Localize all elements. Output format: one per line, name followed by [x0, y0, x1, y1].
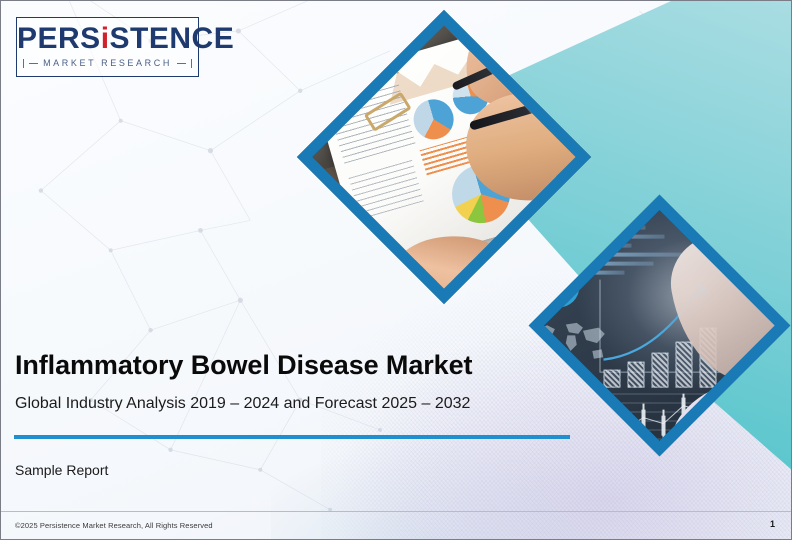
- logo-tagline: MARKET RESEARCH: [43, 58, 172, 68]
- report-type-label: Sample Report: [15, 462, 108, 478]
- logo-rule-right: [177, 63, 186, 64]
- page-subtitle: Global Industry Analysis 2019 – 2024 and…: [15, 394, 470, 414]
- logo-tick-right-icon: [191, 59, 192, 68]
- logo-wordmark-part1: PERS: [17, 22, 101, 55]
- accent-divider: [14, 435, 570, 439]
- logo-wordmark-part2: STENCE: [110, 22, 235, 55]
- logo-rule-left: [29, 63, 38, 64]
- page-number: 1: [770, 519, 775, 529]
- report-cover-page: 62%: [0, 0, 792, 540]
- footer-copyright: ©2025 Persistence Market Research, All R…: [15, 521, 213, 530]
- footer-divider: [1, 511, 791, 512]
- logo-wordmark: PERSiSTENCE: [17, 22, 198, 56]
- company-logo[interactable]: PERSiSTENCE MARKET RESEARCH: [16, 17, 199, 77]
- logo-wordmark-accent: i: [101, 22, 110, 55]
- logo-tick-left-icon: [23, 59, 24, 68]
- logo-tagline-row: MARKET RESEARCH: [23, 58, 192, 68]
- page-title: Inflammatory Bowel Disease Market: [15, 349, 472, 381]
